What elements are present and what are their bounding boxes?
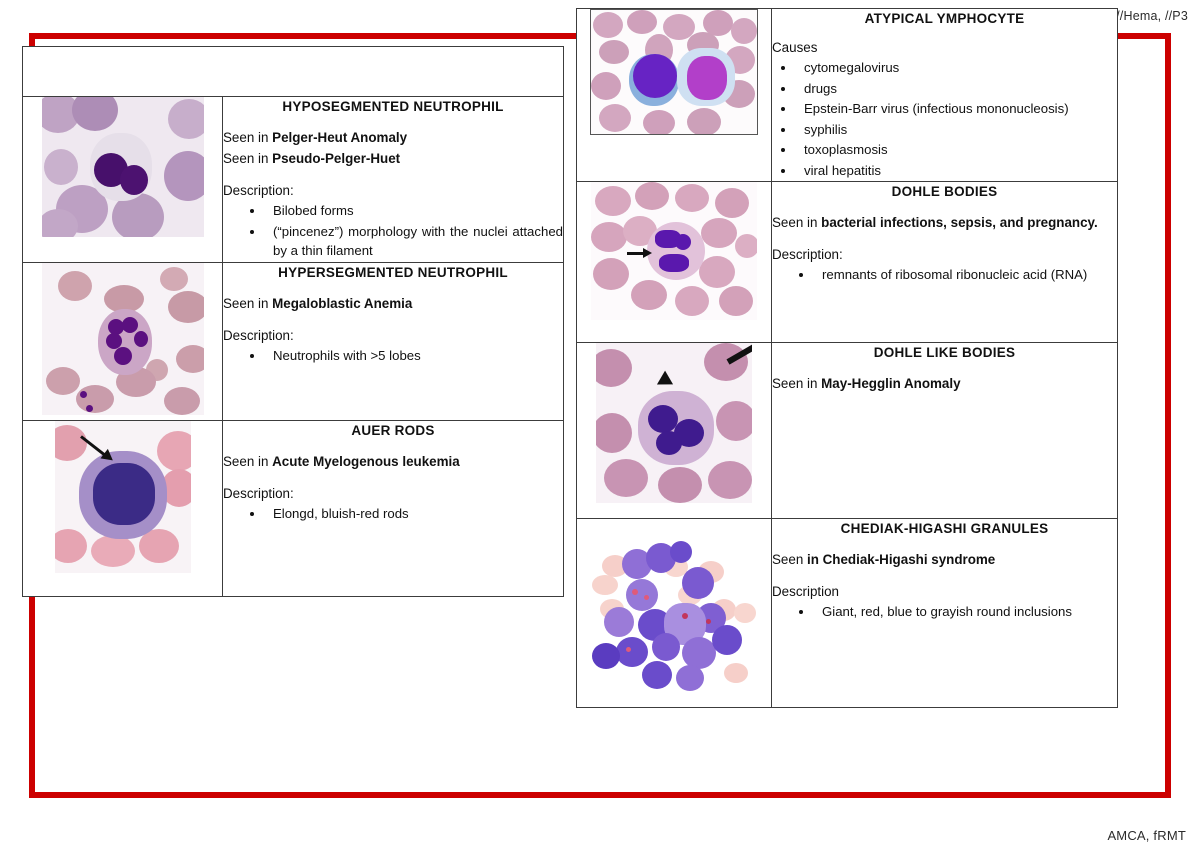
banner-cell: WBC ABNORMALITIES (23, 47, 564, 97)
section-title: ATYPICAL YMPHOCYTE (772, 11, 1117, 26)
seen-in-line: Seen in Chediak-Higashi syndrome (772, 550, 1117, 569)
description-bullets: Giant, red, blue to grayish round inclus… (772, 602, 1117, 622)
spacer (223, 170, 563, 183)
list-item: viral hepatitis (796, 161, 1117, 181)
seen-in-condition: in Chediak-Higashi syndrome (807, 552, 995, 567)
pointer-arrow (79, 433, 123, 467)
hyposegmented-neutrophil-micrograph (42, 97, 204, 237)
banner-row: WBC ABNORMALITIES (23, 47, 564, 97)
seen-in-line: Seen in Pelger-Heut Anomaly (223, 128, 563, 147)
description-label: Description: (772, 247, 1117, 262)
description-label: Description (772, 584, 1117, 599)
description-bullets: Elongd, bluish-red rods (223, 504, 563, 524)
dohle-bodies-micrograph (591, 182, 757, 320)
table-row: CHEDIAK-HIGASHI GRANULES Seen in Chediak… (577, 519, 1118, 708)
table-row: DOHLE BODIES Seen in bacterial infection… (577, 182, 1118, 343)
table-row: AUER RODS Seen in Acute Myelogenous leuk… (23, 420, 564, 596)
description-label: Description: (223, 328, 563, 343)
seen-in-prefix: Seen in (772, 376, 821, 391)
list-item: remnants of ribosomal ribonucleic acid (… (814, 265, 1117, 285)
table-row: ATYPICAL YMPHOCYTE Causes cytomegaloviru… (577, 9, 1118, 182)
dohle-like-bodies-micrograph (596, 343, 752, 503)
text-cell: HYPOSEGMENTED NEUTROPHIL Seen in Pelger-… (223, 97, 564, 263)
hypersegmented-neutrophil-micrograph (42, 263, 204, 415)
atypical-lymphocyte-micrograph (590, 9, 758, 135)
description-bullets: Bilobed forms (“pincenez”) morphology wi… (223, 201, 563, 261)
text-cell: DOHLE BODIES Seen in bacterial infection… (772, 182, 1118, 343)
seen-in-condition: bacterial infections, sepsis, and pregna… (821, 215, 1098, 230)
section-title: CHEDIAK-HIGASHI GRANULES (772, 521, 1117, 536)
text-cell: AUER RODS Seen in Acute Myelogenous leuk… (223, 420, 564, 596)
text-cell: ATYPICAL YMPHOCYTE Causes cytomegaloviru… (772, 9, 1118, 182)
list-item: cytomegalovirus (796, 58, 1117, 78)
seen-in-line: Seen in bacterial infections, sepsis, an… (772, 213, 1117, 232)
section-title: HYPERSEGMENTED NEUTROPHIL (223, 265, 563, 280)
image-cell (23, 262, 223, 420)
list-item: Bilobed forms (265, 201, 563, 221)
seen-in-prefix: Seen in (772, 215, 821, 230)
list-item: Epstein-Barr virus (infectious mononucle… (796, 99, 1117, 119)
table-row: HYPOSEGMENTED NEUTROPHIL Seen in Pelger-… (23, 97, 564, 263)
seen-in-line: Seen in May-Hegglin Anomaly (772, 374, 1117, 393)
auer-rods-micrograph (55, 421, 191, 573)
seen-in-prefix: Seen in (223, 151, 272, 166)
seen-in-prefix: Seen in (223, 296, 272, 311)
list-item: Giant, red, blue to grayish round inclus… (814, 602, 1117, 622)
spacer (772, 234, 1117, 247)
seen-in-condition: Megaloblastic Anemia (272, 296, 412, 311)
causes-bullets: cytomegalovirus drugs Epstein-Barr virus… (772, 58, 1117, 180)
list-item: syphilis (796, 120, 1117, 140)
image-cell (577, 9, 772, 182)
description-label: Description: (223, 486, 563, 501)
description-label: Description: (223, 183, 563, 198)
wbc-abnormalities-right-table: ATYPICAL YMPHOCYTE Causes cytomegaloviru… (576, 8, 1118, 708)
spacer (223, 315, 563, 328)
seen-in-prefix: Seen in (223, 454, 272, 469)
table-row: HYPERSEGMENTED NEUTROPHIL Seen in Megalo… (23, 262, 564, 420)
image-cell (23, 420, 223, 596)
page-title: WBC ABNORMALITIES (123, 54, 463, 86)
table-row: DOHLE LIKE BODIES Seen in May-Hegglin An… (577, 343, 1118, 519)
image-cell (577, 182, 772, 343)
image-cell (577, 519, 772, 708)
pointer-arrow (650, 357, 710, 403)
description-bullets: remnants of ribosomal ribonucleic acid (… (772, 265, 1117, 285)
page-footer-credit: AMCA, fRMT (1107, 828, 1186, 843)
seen-in-prefix: Seen in (223, 130, 272, 145)
seen-in-condition: Pseudo-Pelger-Huet (272, 151, 400, 166)
section-title: DOHLE LIKE BODIES (772, 345, 1117, 360)
seen-in-prefix: Seen (772, 552, 807, 567)
spacer (772, 571, 1117, 584)
text-cell: DOHLE LIKE BODIES Seen in May-Hegglin An… (772, 343, 1118, 519)
text-cell: CHEDIAK-HIGASHI GRANULES Seen in Chediak… (772, 519, 1118, 708)
pointer-arrow (627, 246, 653, 262)
section-title: AUER RODS (223, 423, 563, 438)
seen-in-condition: May-Hegglin Anomaly (821, 376, 960, 391)
seen-in-line: Seen in Megaloblastic Anemia (223, 294, 563, 313)
section-title: HYPOSEGMENTED NEUTROPHIL (223, 99, 563, 114)
causes-label: Causes (772, 40, 1117, 55)
wbc-abnormalities-left-table: WBC ABNORMALITIES (22, 46, 564, 597)
image-cell (577, 343, 772, 519)
list-item: Elongd, bluish-red rods (265, 504, 563, 524)
chediak-higashi-granules-micrograph (586, 519, 762, 695)
seen-in-line: Seen in Acute Myelogenous leukemia (223, 452, 563, 471)
list-item: drugs (796, 79, 1117, 99)
list-item: (“pincenez”) morphology with the nuclei … (265, 222, 563, 261)
list-item: Neutrophils with >5 lobes (265, 346, 563, 366)
description-bullets: Neutrophils with >5 lobes (223, 346, 563, 366)
seen-in-condition: Pelger-Heut Anomaly (272, 130, 407, 145)
spacer (223, 473, 563, 486)
text-cell: HYPERSEGMENTED NEUTROPHIL Seen in Megalo… (223, 262, 564, 420)
seen-in-condition: Acute Myelogenous leukemia (272, 454, 460, 469)
list-item: toxoplasmosis (796, 140, 1117, 160)
page-header-note: //Hema, //P3 (1116, 9, 1188, 23)
seen-in-line: Seen in Pseudo-Pelger-Huet (223, 149, 563, 168)
image-cell (23, 97, 223, 263)
section-title: DOHLE BODIES (772, 184, 1117, 199)
